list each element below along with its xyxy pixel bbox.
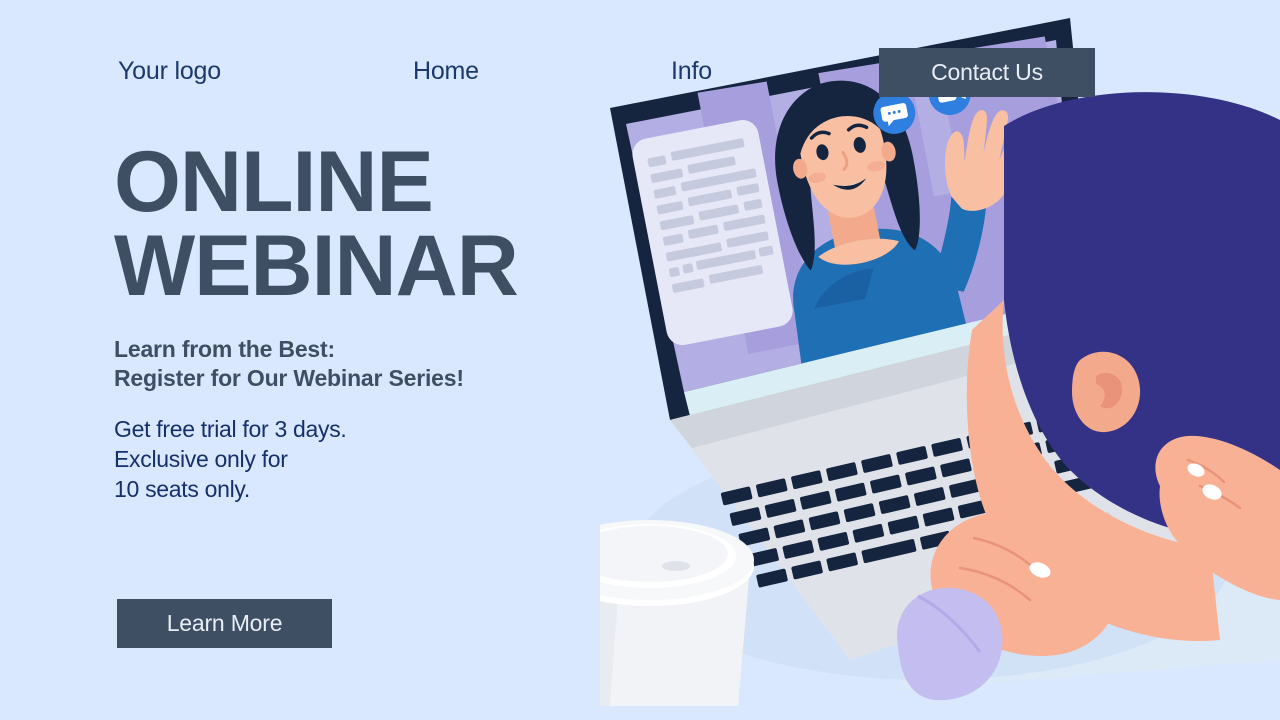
nav-link-info[interactable]: Info	[671, 57, 712, 86]
nav-link-home[interactable]: Home	[413, 57, 479, 86]
headline-line-1: ONLINE	[114, 140, 674, 224]
page-title: ONLINE WEBINAR	[114, 140, 674, 309]
learn-more-button[interactable]: Learn More	[117, 599, 332, 648]
body-line-2: Exclusive only for	[114, 445, 674, 475]
landing-page: Your logo Home Info Contact Us ONLINE WE…	[0, 0, 1280, 720]
takeaway-coffee-cup	[600, 520, 754, 706]
headline-line-2: WEBINAR	[114, 224, 674, 308]
body-line-3: 10 seats only.	[114, 475, 674, 505]
top-navigation-bar: Your logo Home Info Contact Us	[0, 0, 1280, 120]
subhead-line-2: Register for Our Webinar Series!	[114, 364, 674, 393]
hero-body-text: Get free trial for 3 days. Exclusive onl…	[114, 415, 674, 505]
body-line-1: Get free trial for 3 days.	[114, 415, 674, 445]
subhead-line-1: Learn from the Best:	[114, 335, 674, 364]
contact-us-button[interactable]: Contact Us	[879, 48, 1095, 97]
viewer-sleeve	[897, 588, 1002, 700]
hero-content: ONLINE WEBINAR Learn from the Best: Regi…	[114, 140, 674, 505]
hero-subheading: Learn from the Best: Register for Our We…	[114, 335, 674, 394]
brand-logo[interactable]: Your logo	[118, 57, 221, 86]
